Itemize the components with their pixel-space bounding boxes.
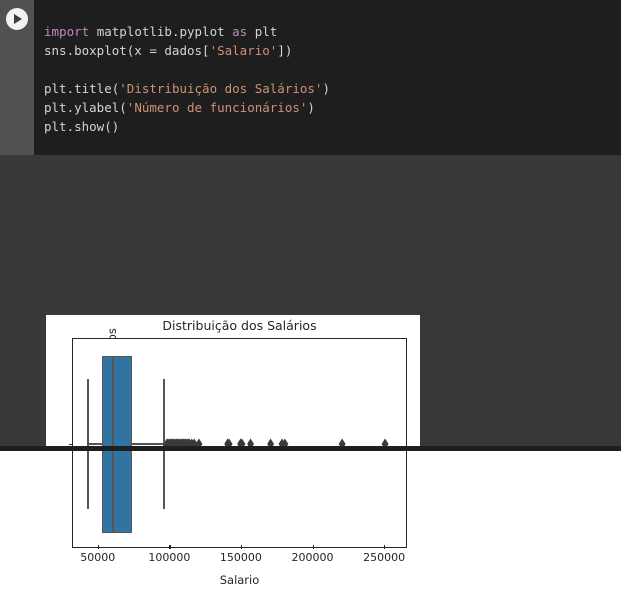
x-tick-label: 50000: [80, 551, 115, 564]
notebook-cell: import matplotlib.pyplot as plt sns.boxp…: [0, 0, 621, 451]
whisker-high-line: [132, 443, 164, 445]
code-token: matplotlib.pyplot: [97, 24, 232, 39]
code-token: import: [44, 24, 97, 39]
x-axis-ticks: 50000100000150000200000250000: [72, 551, 407, 569]
code-token: plt.ylabel(: [44, 100, 127, 115]
x-axis-label: Salario: [72, 573, 407, 587]
box-iqr: [102, 356, 133, 533]
x-tick-mark: [241, 545, 242, 549]
x-tick-mark: [169, 545, 170, 549]
code-token: 'Salario': [210, 43, 278, 58]
code-token: ): [322, 81, 330, 96]
x-tick-mark: [384, 545, 385, 549]
code-token: 'Número de funcionários': [127, 100, 308, 115]
code-token: plt: [255, 24, 278, 39]
run-cell-button[interactable]: [6, 8, 28, 30]
x-tick-label: 250000: [363, 551, 405, 564]
whisker-low-cap: [87, 379, 89, 509]
code-token: ): [307, 100, 315, 115]
x-tick-label: 150000: [220, 551, 262, 564]
code-cell-gutter: [0, 0, 34, 155]
whisker-low-line: [88, 443, 101, 445]
code-editor-text[interactable]: import matplotlib.pyplot as plt sns.boxp…: [44, 22, 330, 136]
cell-bottom-strip: [0, 446, 621, 451]
x-tick-label: 100000: [148, 551, 190, 564]
code-cell[interactable]: import matplotlib.pyplot as plt sns.boxp…: [0, 0, 621, 155]
code-token: as: [232, 24, 255, 39]
code-token: plt.show(): [44, 119, 119, 134]
median-line: [112, 356, 114, 533]
y-tick-mark: [69, 444, 74, 445]
plot-title: Distribuição dos Salários: [72, 318, 407, 333]
code-token: plt.title(: [44, 81, 119, 96]
matplotlib-figure: Distribuição dos Salários Número de func…: [46, 315, 420, 595]
code-token: sns.boxplot(x = dados[: [44, 43, 210, 58]
code-token: 'Distribuição dos Salários': [119, 81, 322, 96]
x-tick-label: 200000: [292, 551, 334, 564]
x-tick-mark: [98, 545, 99, 549]
x-tick-mark: [313, 545, 314, 549]
cell-output-area: Distribuição dos Salários Número de func…: [0, 155, 621, 446]
play-icon: [14, 14, 22, 24]
code-token: ]): [277, 43, 292, 58]
plot-axes: [72, 338, 407, 548]
